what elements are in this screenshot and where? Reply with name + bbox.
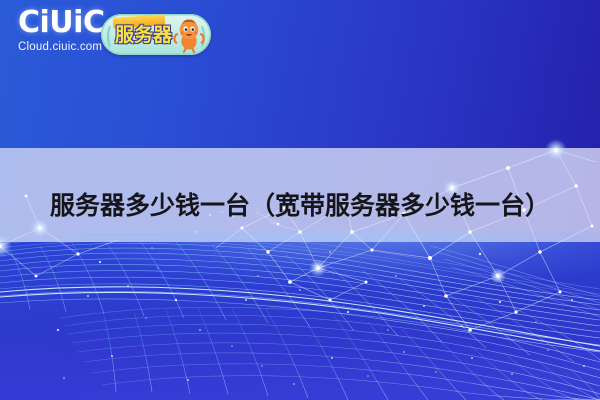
site-logo[interactable]: CiUiC Cloud.ciuic.com <box>18 8 108 54</box>
badge-label: 服务器 <box>115 25 172 46</box>
page-title: 服务器多少钱一台（宽带服务器多少钱一台） <box>0 190 600 222</box>
server-badge: 服务器 <box>101 14 211 55</box>
deep-background-band <box>0 242 600 400</box>
orange-mascot-icon <box>172 17 206 53</box>
logo-domain: Cloud.ciuic.com <box>18 42 108 54</box>
banner-image: CiUiC Cloud.ciuic.com 服务器 <box>0 0 600 400</box>
logo-wordmark: CiUiC <box>18 8 108 38</box>
